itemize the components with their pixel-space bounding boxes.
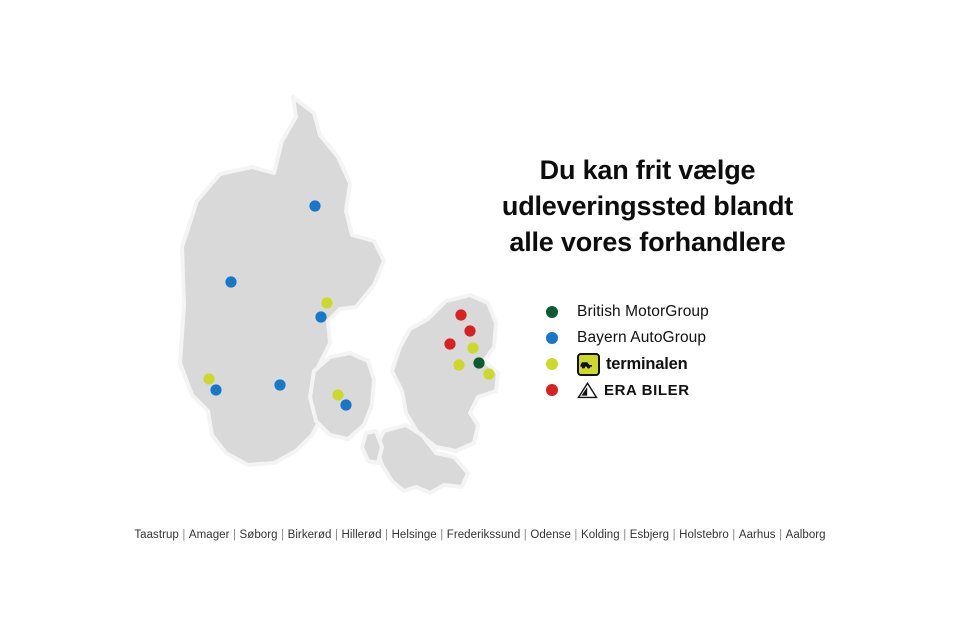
city-separator: | — [331, 529, 341, 541]
legend-dot-red — [546, 384, 558, 396]
city-separator: | — [278, 529, 288, 541]
city-s-borg: Søborg — [240, 529, 278, 541]
map-dot-esbjerg-bayern — [210, 384, 221, 395]
city-aarhus: Aarhus — [739, 529, 776, 541]
headline-line-2: udleveringssted blandt — [455, 188, 840, 224]
map-dot-odense-terminalen — [332, 389, 343, 400]
city-separator: | — [520, 529, 530, 541]
city-separator: | — [669, 529, 679, 541]
headline-line-3: alle vores forhandlere — [455, 224, 840, 260]
page-title: Du kan frit vælge udleveringssted blandt… — [455, 152, 840, 260]
map-dot-odense-bayern — [340, 399, 351, 410]
city-separator: | — [179, 529, 189, 541]
city-birker-d: Birkerød — [288, 529, 332, 541]
map-dot-aalborg — [309, 200, 320, 211]
city-hiller-d: Hillerød — [342, 529, 382, 541]
city-helsinge: Helsinge — [392, 529, 437, 541]
map-dot-amager-british — [473, 357, 484, 368]
legend-dot-green — [546, 306, 558, 318]
poster-canvas: Du kan frit vælge udleveringssted blandt… — [0, 0, 960, 640]
legend-label-terminalen: terminalen — [606, 355, 687, 374]
map-dot-soborg-terminalen — [453, 359, 464, 370]
map-dot-holstebro — [225, 276, 236, 287]
legend-label-era-biler: ERA BILER — [604, 382, 690, 399]
city-separator: | — [571, 529, 581, 541]
city-esbjerg: Esbjerg — [630, 529, 669, 541]
city-holstebro: Holstebro — [679, 529, 729, 541]
headline-line-1: Du kan frit vælge — [455, 152, 840, 188]
city-aalborg: Aalborg — [786, 529, 826, 541]
era-biler-brand: ERA BILER — [577, 382, 690, 399]
map-dot-taastrup-terminalen — [483, 368, 494, 379]
city-separator: | — [620, 529, 630, 541]
city-separator: | — [230, 529, 240, 541]
map-dot-aarhus-bayern — [315, 311, 326, 322]
city-separator: | — [776, 529, 786, 541]
city-separator: | — [382, 529, 392, 541]
terminalen-brand: terminalen — [577, 353, 687, 376]
legend-dot-blue — [546, 332, 558, 344]
city-separator: | — [437, 529, 447, 541]
dealer-legend: British MotorGroup Bayern AutoGroup term… — [546, 299, 846, 403]
terminalen-car-icon — [577, 353, 600, 376]
city-list: Taastrup|Amager|Søborg|Birkerød|Hillerød… — [0, 529, 960, 541]
city-taastrup: Taastrup — [134, 529, 179, 541]
map-dot-birkerod-terminalen — [467, 342, 478, 353]
city-separator: | — [729, 529, 739, 541]
map-dot-helsinge-era — [455, 309, 466, 320]
map-dot-hillerod-era — [464, 325, 475, 336]
city-kolding: Kolding — [581, 529, 620, 541]
legend-item-terminalen: terminalen — [546, 351, 846, 377]
legend-item-bayern-autogroup: Bayern AutoGroup — [546, 325, 846, 351]
map-dot-frederikssund-era — [444, 338, 455, 349]
region-small-isles — [362, 431, 382, 463]
legend-dot-yellow — [546, 358, 558, 370]
map-dot-aarhus-terminalen — [321, 297, 332, 308]
city-amager: Amager — [189, 529, 230, 541]
city-odense: Odense — [530, 529, 571, 541]
legend-item-era-biler: ERA BILER — [546, 377, 846, 403]
legend-label-bayern-autogroup: Bayern AutoGroup — [577, 329, 706, 347]
map-landmasses — [180, 97, 498, 493]
map-dot-esbjerg-terminalen — [203, 373, 214, 384]
city-frederikssund: Frederikssund — [447, 529, 521, 541]
legend-label-british-motorgroup: British MotorGroup — [577, 303, 709, 321]
map-dot-kolding — [274, 379, 285, 390]
era-biler-triangle-icon — [577, 382, 598, 399]
legend-item-british-motorgroup: British MotorGroup — [546, 299, 846, 325]
